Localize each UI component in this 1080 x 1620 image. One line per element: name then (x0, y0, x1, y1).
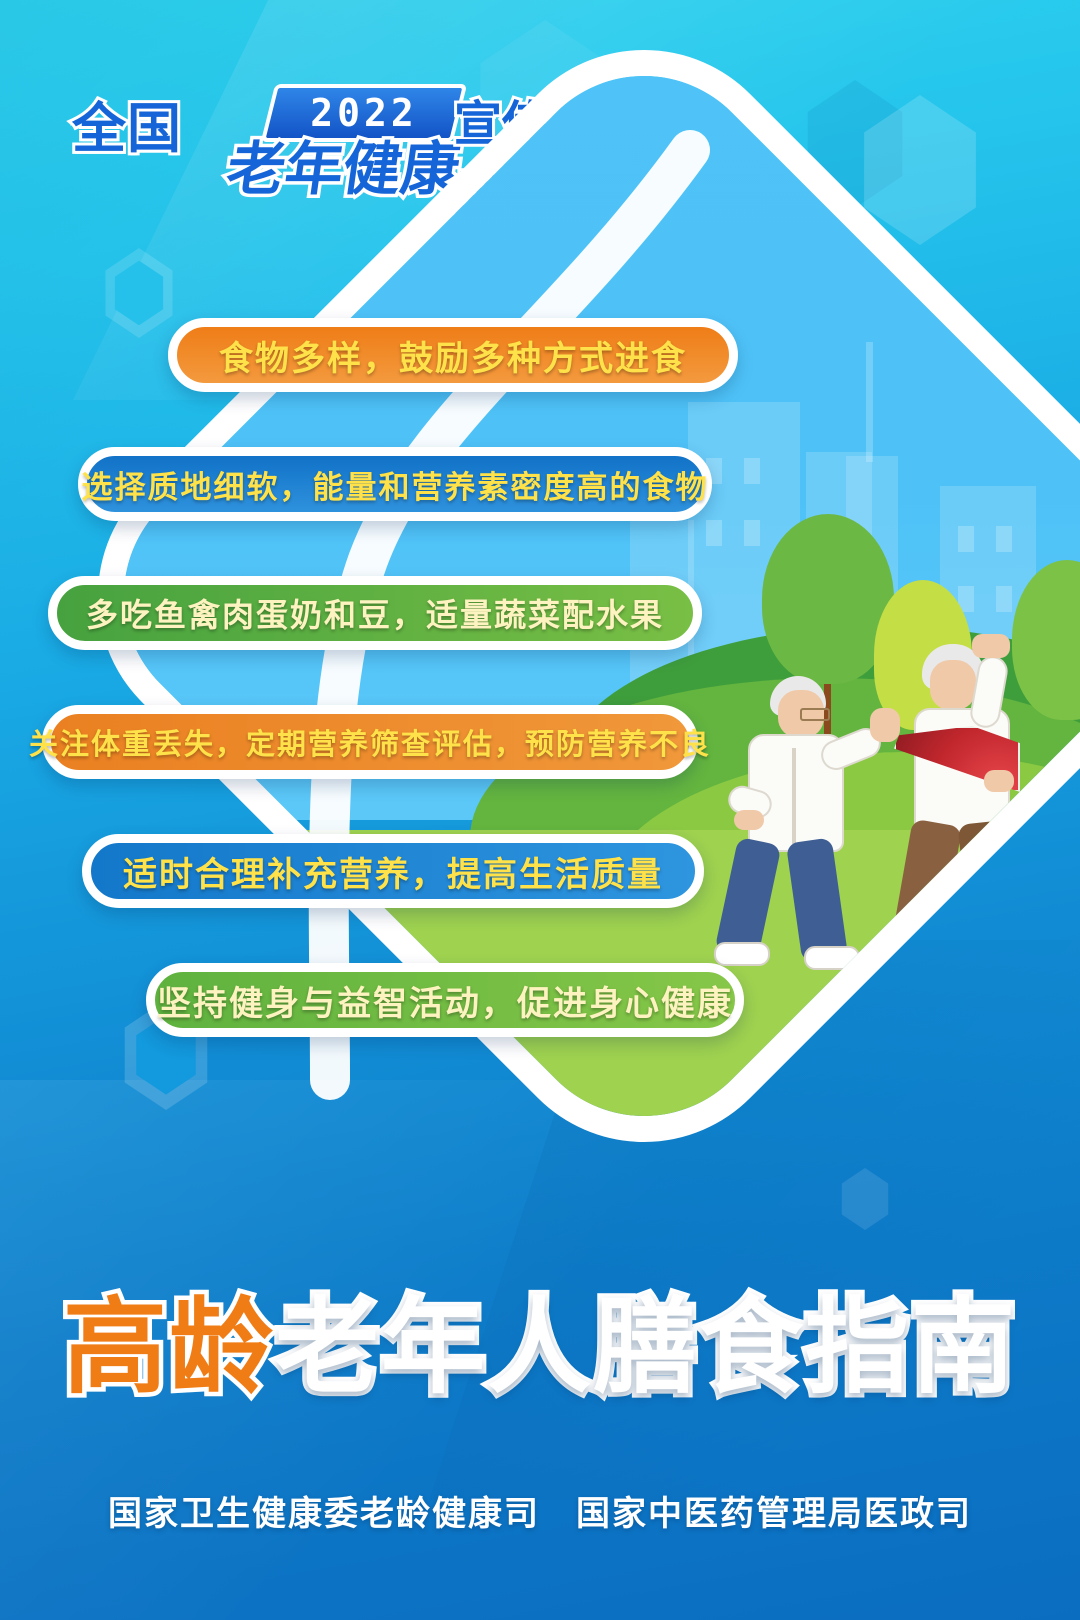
man-glasses-icon (800, 708, 830, 721)
woman-pants-left (892, 819, 962, 948)
message-pill-6-label: 坚持健身与益智活动，促进身心健康 (157, 976, 733, 1025)
woman-shoe-left (894, 930, 946, 952)
person-woman-taichi-fan (888, 630, 1048, 950)
publisher-footer: 国家卫生健康委老龄健康司 国家中医药管理局医政司 (0, 1486, 1080, 1535)
woman-pants-right (958, 820, 1021, 951)
message-pill-4-label: 关注体重丢失，定期营养筛查评估，预防营养不良 (29, 721, 711, 763)
page-title-rest: 老年人膳食指南 (275, 1286, 1017, 1408)
hexagon-icon-bottom-right (838, 1168, 892, 1230)
man-pants-left (714, 837, 781, 960)
message-pill-4[interactable]: 关注体重丢失，定期营养筛查评估，预防营养不良 (42, 705, 698, 779)
message-pill-5[interactable]: 适时合理补充营养，提高生活质量 (82, 834, 704, 908)
person-man-taichi (712, 660, 872, 960)
message-pill-6[interactable]: 坚持健身与益智活动，促进身心健康 (146, 963, 744, 1037)
message-pill-2[interactable]: 选择质地细软，能量和营养素密度高的食物 (78, 447, 712, 521)
message-pill-3-label: 多吃鱼禽肉蛋奶和豆，适量蔬菜配水果 (86, 590, 664, 636)
message-pill-2-label: 选择质地细软，能量和营养素密度高的食物 (82, 462, 709, 507)
woman-hand-raised (972, 634, 1010, 658)
page-title-highlight: 高龄 (63, 1286, 275, 1408)
woman-face (930, 660, 976, 710)
message-pill-5-label: 适时合理补充营养，提高生活质量 (123, 847, 663, 896)
poster-root: 全国 2022 老年健康 宣传周 7月25日-31日 (0, 0, 1080, 1620)
message-pill-1-label: 食物多样，鼓励多种方式进食 (219, 331, 687, 380)
man-pants-right (786, 837, 848, 962)
building-spire (866, 342, 873, 462)
page-title: 高龄老年人膳食指南 (0, 1262, 1080, 1413)
man-shoe-left (714, 942, 770, 966)
message-pill-1[interactable]: 食物多样，鼓励多种方式进食 (168, 318, 738, 392)
man-hand-low (734, 810, 764, 830)
man-shoe-right (804, 946, 860, 970)
hexagon-icon-left-upper (100, 248, 178, 338)
logo-text-main: 全国 (72, 84, 182, 163)
woman-shoe-right (968, 934, 1020, 956)
man-frog-buttons (792, 748, 796, 844)
message-pill-3[interactable]: 多吃鱼禽肉蛋奶和豆，适量蔬菜配水果 (48, 576, 702, 650)
woman-hand-fan (984, 770, 1014, 792)
